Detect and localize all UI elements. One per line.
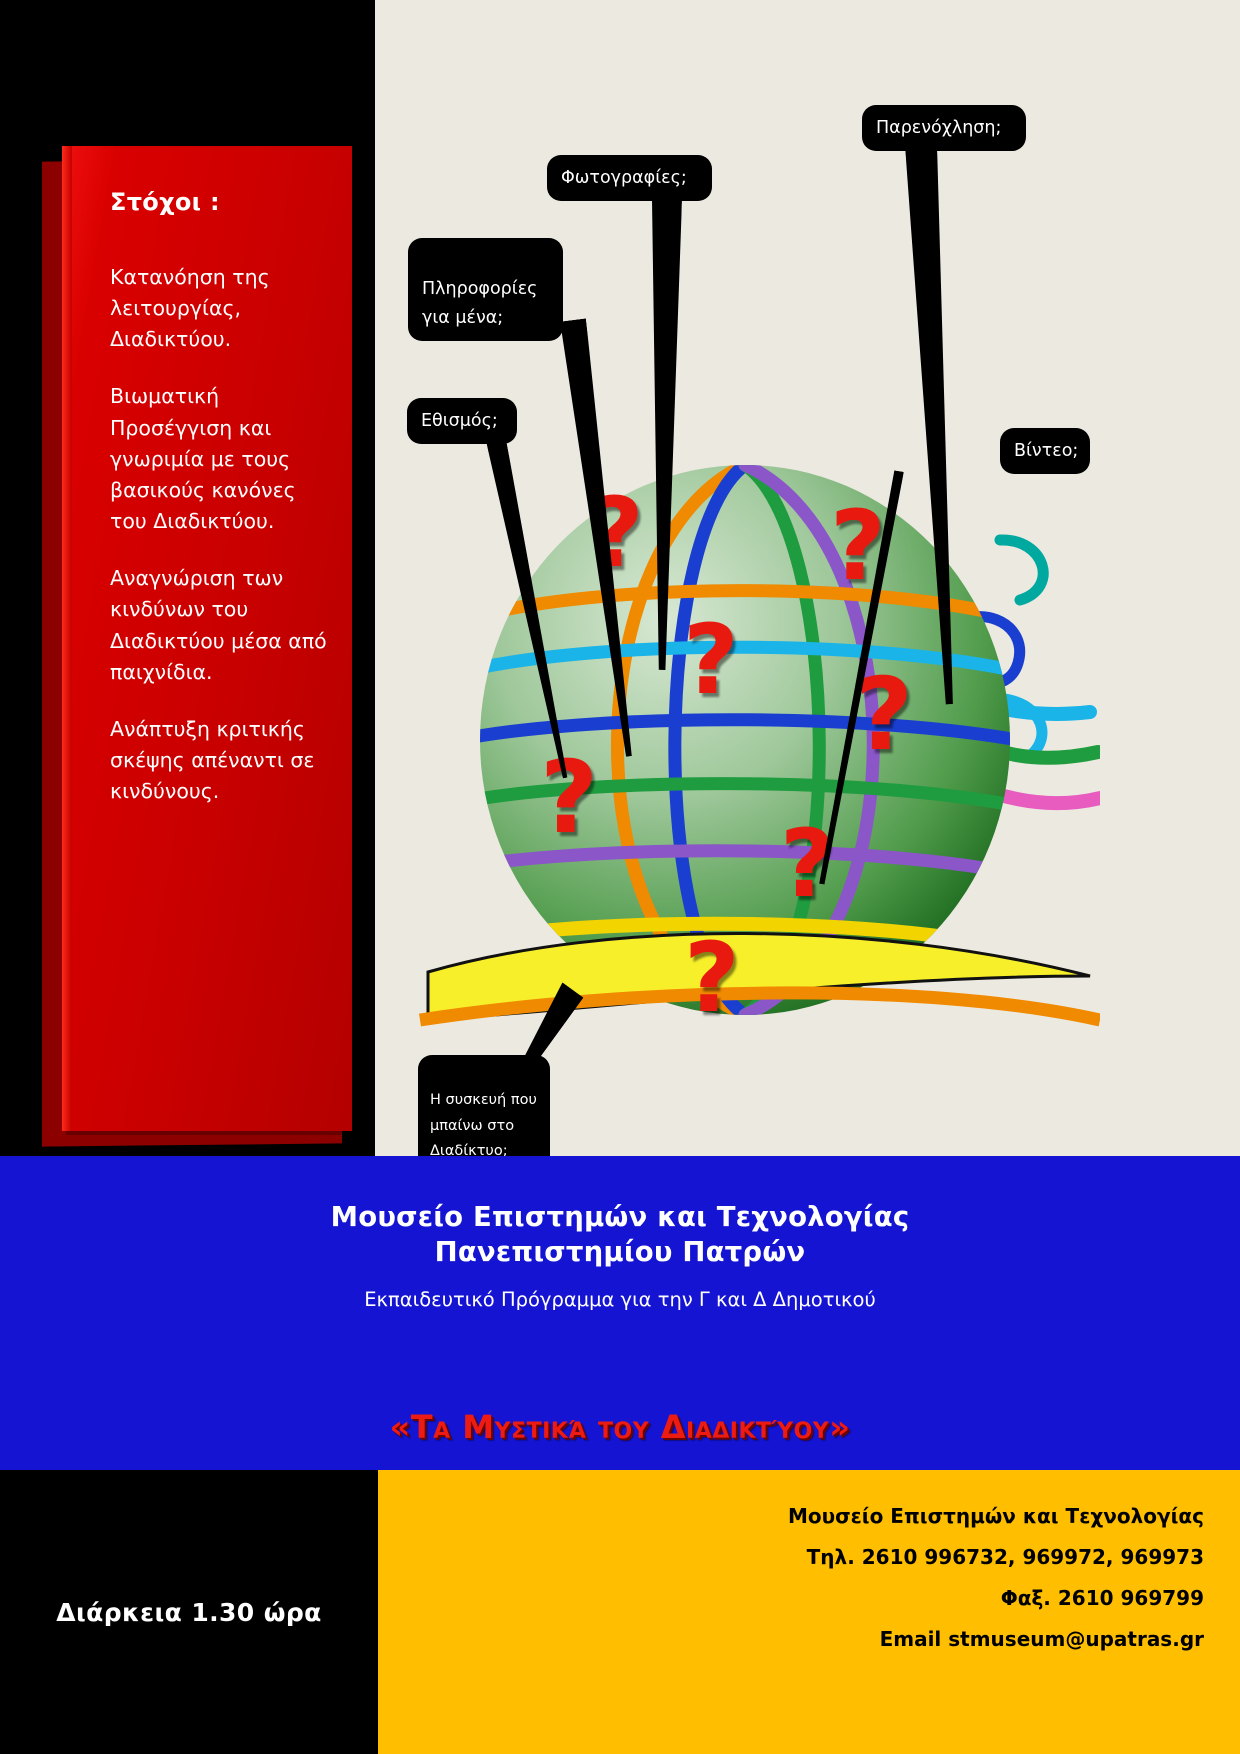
- program-title-bar: «Τα Μυστικά του Διαδικτύου»: [0, 1406, 1240, 1470]
- question-mark: ?: [540, 748, 598, 848]
- callout-text: Βίντεο;: [1014, 441, 1078, 461]
- callout-fotografies[interactable]: Φωτογραφίες;: [547, 155, 712, 201]
- objective-item: Κατανόηση της λειτουργίας, Διαδικτύου.: [110, 262, 330, 355]
- callout-device[interactable]: Η συσκευή που μπαίνω στο Διαδίκτυο;: [418, 1055, 550, 1173]
- footer: Διάρκεια 1.30 ώρα Μουσείο Επιστημών και …: [0, 1470, 1240, 1754]
- objectives-heading: Στόχοι :: [110, 188, 330, 216]
- program-subtitle: Εκπαιδευτικό Πρόγραμμα για την Γ και Δ Δ…: [0, 1288, 1240, 1311]
- callout-text: Φωτογραφίες;: [561, 168, 687, 188]
- panel-left-edge: [62, 146, 72, 1131]
- contact-line: Φαξ. 2610 969799: [504, 1578, 1204, 1619]
- blue-banner: Μουσείο Επιστημών και Τεχνολογίας Πανεπι…: [0, 1156, 1240, 1406]
- contact-line: Μουσείο Επιστημών και Τεχνολογίας: [504, 1496, 1204, 1537]
- contact-line: Τηλ. 2610 996732, 969972, 969973: [504, 1537, 1204, 1578]
- callout-ethismos[interactable]: Εθισμός;: [407, 398, 517, 444]
- contact-info: Μουσείο Επιστημών και Τεχνολογίας Τηλ. 2…: [504, 1496, 1204, 1660]
- museum-name: Μουσείο Επιστημών και Τεχνολογίας Πανεπι…: [0, 1156, 1240, 1270]
- museum-line-2: Πανεπιστημίου Πατρών: [0, 1235, 1240, 1270]
- callout-text: Η συσκευή που μπαίνω στο Διαδίκτυο;: [430, 1092, 537, 1159]
- poster: ? ? ? ? ? ? ? Εθισμός; Πληροφορίες για μ…: [0, 0, 1240, 1754]
- contact-line-email[interactable]: Email stmuseum@upatras.gr: [504, 1619, 1204, 1660]
- poster-stage: ? ? ? ? ? ? ? Εθισμός; Πληροφορίες για μ…: [0, 0, 1240, 1156]
- objectives-panel: Στόχοι : Κατανόηση της λειτουργίας, Διαδ…: [62, 146, 352, 1131]
- objective-item: Αναγνώριση των κινδύνων του Διαδικτύου μ…: [110, 563, 330, 688]
- callout-text: Παρενόχληση;: [876, 118, 1001, 138]
- museum-line-1: Μουσείο Επιστημών και Τεχνολογίας: [0, 1200, 1240, 1235]
- callout-parenochlisi[interactable]: Παρενόχληση;: [862, 105, 1026, 151]
- objective-item: Βιωματική Προσέγγιση και γνωριμία με του…: [110, 381, 330, 537]
- callout-text: Εθισμός;: [421, 411, 498, 431]
- question-mark: ?: [684, 930, 740, 1026]
- question-mark: ?: [683, 612, 739, 708]
- duration-label: Διάρκεια 1.30 ώρα: [0, 1470, 378, 1754]
- callout-plirofories[interactable]: Πληροφορίες για μένα;: [408, 238, 563, 341]
- callout-video[interactable]: Βίντεο;: [1000, 428, 1090, 474]
- callout-text: Πληροφορίες για μένα;: [422, 279, 537, 327]
- objective-item: Ανάπτυξη κριτικής σκέψης απέναντι σε κιν…: [110, 714, 330, 807]
- program-title-text: «Τα Μυστικά του Διαδικτύου»: [390, 1406, 851, 1446]
